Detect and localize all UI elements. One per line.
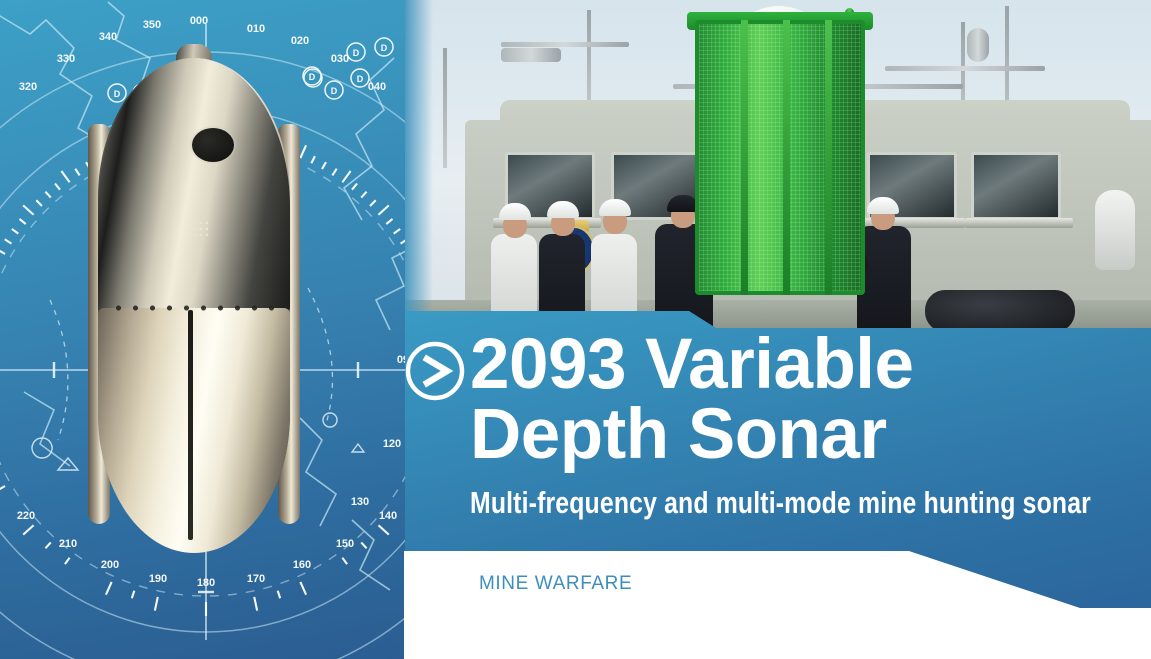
- bearing-200: 200: [101, 559, 119, 571]
- cage-vertical-bar: [741, 20, 748, 295]
- sonar-fastener-cluster: [192, 220, 208, 236]
- sonar-transducer-port: [192, 128, 234, 162]
- yardarm: [885, 66, 1045, 71]
- chart-marker-d: D: [381, 43, 388, 53]
- left-illustration-panel: 000 010 020 030 040 350 340 330 320 090 …: [0, 0, 412, 659]
- navigation-light: [967, 28, 989, 62]
- bearing-130: 130: [351, 496, 369, 508]
- bridge-window: [971, 152, 1061, 220]
- bearing-030: 030: [331, 53, 349, 65]
- chart-marker-d: D: [309, 72, 316, 82]
- bearing-120: 120: [383, 438, 401, 450]
- page-subtitle: Multi-frequency and multi-mode mine hunt…: [470, 487, 1014, 518]
- banner-text-block: 2093 Variable Depth Sonar Multi-frequenc…: [470, 330, 1150, 518]
- bearing-190: 190: [149, 573, 167, 585]
- bearing-210: 210: [59, 538, 77, 550]
- bearing-150: 150: [336, 538, 354, 550]
- deck-tyre-fender: [925, 290, 1075, 330]
- bearing-010: 010: [247, 23, 265, 35]
- page-title-line-2: Depth Sonar: [470, 400, 1150, 470]
- bearing-180: 180: [197, 577, 215, 589]
- chart-marker-d: D: [353, 48, 360, 58]
- brochure-page: 000 010 020 030 040 350 340 330 320 090 …: [0, 0, 1151, 659]
- cage-vertical-bar: [783, 20, 790, 295]
- sonar-rivet-band: [110, 302, 278, 314]
- sonar-lower-section: [98, 308, 290, 553]
- radar-array: [501, 48, 561, 62]
- cage-vertical-bar: [825, 20, 832, 295]
- page-title-line-1: 2093 Variable: [470, 330, 1150, 400]
- green-protective-cage: [695, 20, 865, 295]
- category-label: MINE WARFARE: [479, 573, 632, 595]
- bearing-170: 170: [247, 573, 265, 585]
- bearing-220: 220: [17, 510, 35, 522]
- crew-body: [857, 226, 911, 330]
- yardarm: [501, 42, 629, 47]
- photo-left-fade: [405, 0, 433, 330]
- bearing-350: 350: [143, 19, 161, 31]
- bearing-160: 160: [293, 559, 311, 571]
- bearing-320: 320: [19, 81, 37, 93]
- ship-deck-photograph: [405, 0, 1151, 330]
- mast-antenna: [443, 48, 447, 168]
- bearing-040: 040: [368, 81, 386, 93]
- deck-fender: [1095, 190, 1135, 270]
- bearing-330: 330: [57, 53, 75, 65]
- chart-marker-d: D: [357, 74, 364, 84]
- bearing-140: 140: [379, 510, 397, 522]
- bearing-000: 000: [190, 15, 208, 27]
- window-ledge: [965, 218, 1073, 228]
- chevron-right-in-circle-icon: [404, 340, 466, 402]
- sonar-seam: [188, 310, 193, 540]
- sonar-towed-body: [88, 40, 300, 555]
- chart-marker-d: D: [331, 86, 338, 96]
